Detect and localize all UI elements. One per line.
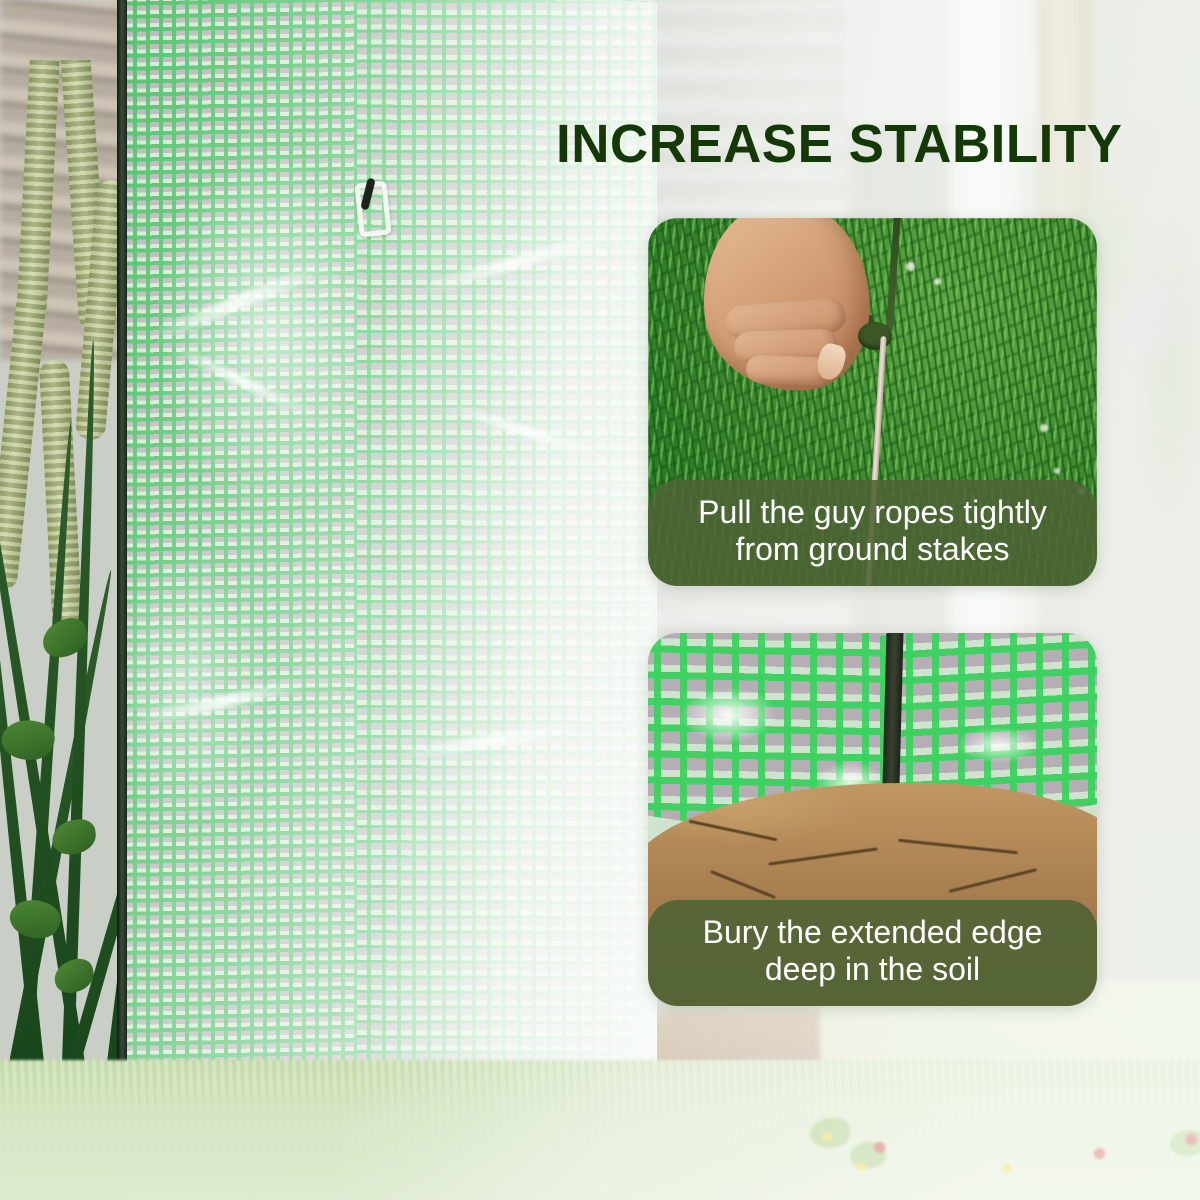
- page-title: INCREASE STABILITY: [556, 117, 1122, 171]
- caption-line-1: Pull the guy ropes tightly: [698, 494, 1047, 530]
- inset-card-guy-ropes: Pull the guy ropes tightly from ground s…: [648, 218, 1097, 586]
- caption-guy-ropes: Pull the guy ropes tightly from ground s…: [648, 480, 1097, 586]
- rope-knot: [858, 322, 892, 350]
- greenhouse-front-panel: [127, 0, 359, 1108]
- product-feature-image: INCREASE STABILITY Pull the guy ropes ti…: [0, 0, 1200, 1200]
- caption-line-2: from ground stakes: [658, 531, 1087, 568]
- left-plants-group: [0, 60, 124, 1120]
- plastic-sheen-front: [127, 0, 359, 1108]
- caption-line-2: deep in the soil: [658, 951, 1087, 988]
- lavender-blur-background: [1090, 230, 1200, 450]
- inset-card-buried-edge: Bury the extended edge deep in the soil: [648, 633, 1097, 1006]
- caption-line-1: Bury the extended edge: [703, 914, 1043, 950]
- caption-buried-edge: Bury the extended edge deep in the soil: [648, 900, 1097, 1006]
- foreground-grass: [0, 1060, 1200, 1200]
